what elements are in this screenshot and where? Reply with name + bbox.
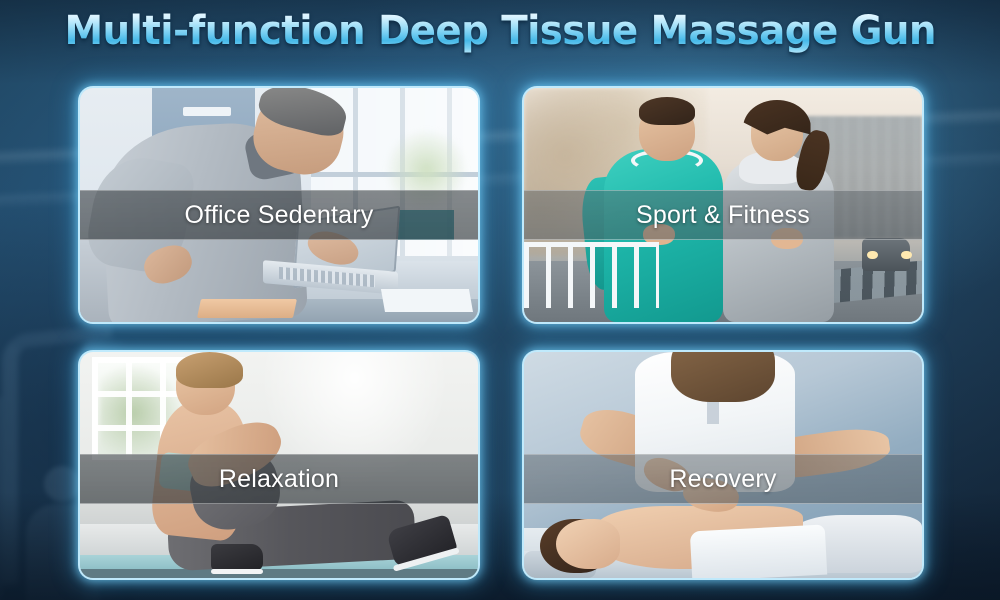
caption-label: Recovery [669, 465, 776, 494]
desk-folder [197, 299, 296, 318]
use-case-card-recovery[interactable]: Recovery [524, 352, 922, 578]
use-case-card-relaxation[interactable]: Relaxation [80, 352, 478, 578]
banner-title-wrapper: Multi-function Deep Tissue Massage Gun [0, 9, 1000, 54]
card-caption-office-sedentary: Office Sedentary [80, 190, 478, 240]
page-title: Multi-function Deep Tissue Massage Gun [64, 9, 935, 54]
card-caption-relaxation: Relaxation [80, 454, 478, 504]
therapist-hair [671, 352, 774, 402]
caption-label: Relaxation [219, 465, 339, 494]
woman-hair [176, 352, 244, 388]
background-car [862, 238, 910, 271]
desk-papers [380, 289, 472, 312]
client-towel [690, 525, 828, 578]
caption-label: Sport & Fitness [636, 201, 810, 230]
woman-shoe-left [211, 544, 263, 571]
jogger-man-hair [639, 97, 695, 125]
use-case-card-office-sedentary[interactable]: Office Sedentary [80, 88, 478, 322]
bridge-railing-left [524, 242, 659, 308]
card-caption-recovery: Recovery [524, 454, 922, 504]
client-head [556, 519, 620, 569]
product-banner: Multi-function Deep Tissue Massage Gun [0, 0, 1000, 600]
use-case-card-grid: Office Sedentary [80, 88, 922, 578]
caption-label: Office Sedentary [185, 201, 374, 230]
room-floor [80, 569, 478, 578]
use-case-card-sport-fitness[interactable]: Sport & Fitness [524, 88, 922, 322]
cabinet-handle-top [183, 107, 231, 116]
card-caption-sport-fitness: Sport & Fitness [524, 190, 922, 240]
